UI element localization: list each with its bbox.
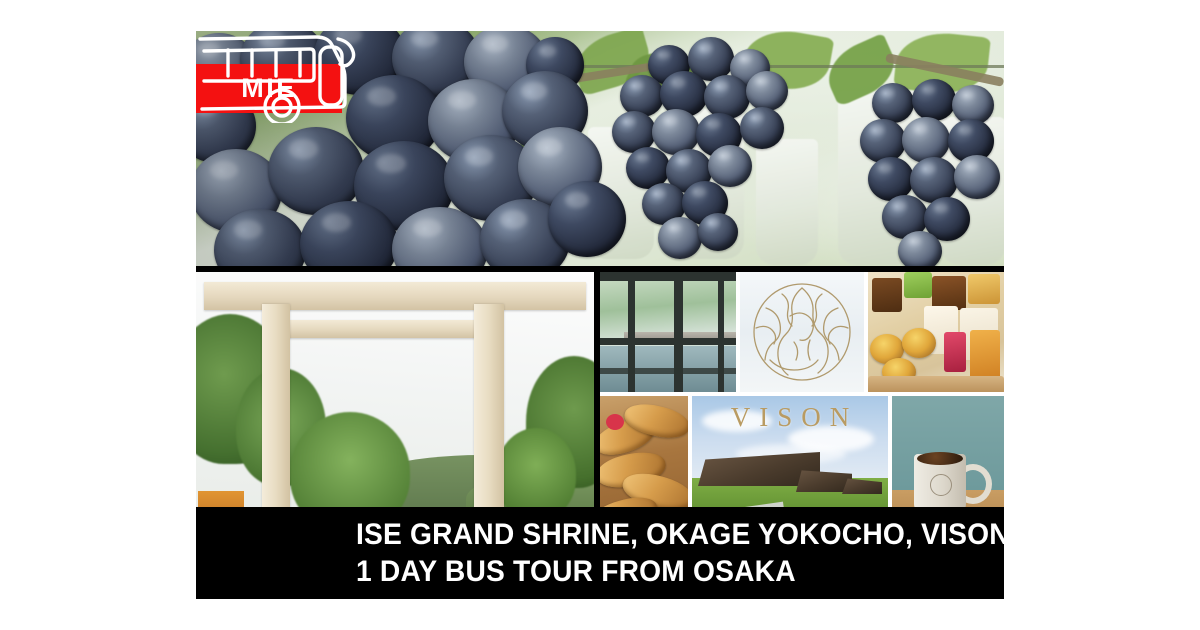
tour-promo-card: MIE — [0, 0, 1200, 630]
grape-berry — [912, 79, 956, 121]
window-mullion — [600, 272, 736, 281]
grape-berry — [898, 231, 942, 266]
strawberry — [606, 414, 624, 430]
window-mullion — [600, 368, 736, 374]
grape-berry — [698, 213, 738, 251]
bus-icon — [198, 31, 358, 123]
grape-berry — [910, 157, 958, 203]
mug-logo — [930, 474, 952, 496]
grape-berry — [902, 117, 950, 163]
torii-second-beam — [286, 320, 478, 338]
grape-berry — [620, 75, 664, 117]
grape-berry — [652, 109, 700, 155]
grape-berry — [704, 75, 750, 119]
grape-berry — [740, 107, 784, 149]
photo-collage: VISON — [600, 272, 1004, 547]
grape-berry — [658, 217, 702, 259]
card-content-frame: MIE — [196, 31, 1004, 599]
orange-cake — [970, 330, 1000, 380]
banner-title-line-1: ISE GRAND SHRINE, OKAGE YOKOCHO, VISON — [356, 516, 958, 553]
window-mullion — [628, 272, 635, 392]
chocolate-cake — [872, 278, 902, 312]
apple-tart — [902, 328, 936, 358]
vine-bag — [756, 139, 818, 265]
banner-title-line-2: 1 DAY BUS TOUR FROM OSAKA — [356, 553, 958, 590]
banner-title: ISE GRAND SHRINE, OKAGE YOKOCHO, VISON 1… — [356, 516, 996, 590]
circle-emblem-icon — [740, 272, 864, 392]
green-cake — [904, 272, 932, 298]
grape-berry — [872, 83, 914, 123]
grape-berry — [860, 119, 906, 163]
window-mullion — [600, 338, 736, 345]
grape-berry — [954, 155, 1000, 199]
coffee-liquid — [917, 452, 963, 465]
torii-gate-photo — [196, 272, 594, 547]
vison-circle-logo — [740, 272, 864, 392]
dessert-buffet-photo — [868, 272, 1004, 392]
vison-wordmark: VISON — [692, 402, 888, 433]
grape-berry — [746, 71, 788, 111]
tart-slice — [968, 274, 1000, 304]
title-banner: ISE GRAND SHRINE, OKAGE YOKOCHO, VISON 1… — [196, 507, 1004, 599]
chocolate-cake — [932, 276, 966, 310]
grape-berry — [548, 181, 626, 257]
wooden-board — [868, 376, 1004, 392]
grape-berry — [708, 145, 752, 187]
berry-cake — [944, 332, 966, 372]
glass-interior-photo — [600, 272, 736, 392]
window-mullion — [674, 272, 683, 392]
window-mullion — [718, 272, 724, 392]
